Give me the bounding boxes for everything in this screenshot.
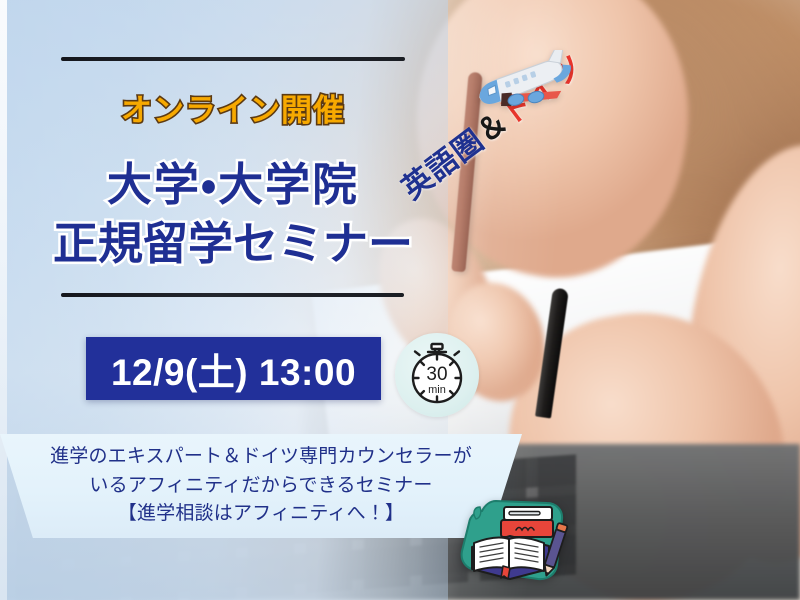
divider-rule-top — [61, 57, 405, 61]
divider-rule-bottom — [61, 293, 404, 297]
event-date-plate: 12/9(土) 13:00 — [86, 337, 381, 400]
open-book-icon — [452, 489, 574, 594]
message-line-2: いるアフィニティだからできるセミナー — [89, 472, 432, 501]
event-date-text: 12/9(土) 13:00 — [111, 342, 356, 396]
message-line-1: 進学のエキスパート＆ドイツ専門カウンセラーが — [50, 443, 472, 472]
seminar-banner: オンライン開催 大学・大学院 正規留学セミナー 英語圏＆ドイツ — [0, 0, 800, 600]
message-line-3: 【進学相談はアフィニティへ！】 — [118, 500, 404, 529]
page-title-line-2: 正規留学セミナー — [0, 207, 466, 272]
stopwatch-value: 30 — [426, 364, 447, 385]
stopwatch-icon: 30 min — [395, 333, 479, 417]
stopwatch-unit: min — [428, 384, 446, 396]
kicker-online-label: オンライン開催 — [0, 85, 466, 130]
message-band: 進学のエキスパート＆ドイツ専門カウンセラーが いるアフィニティだからできるセミナ… — [0, 434, 522, 538]
airplane-icon — [466, 50, 574, 120]
